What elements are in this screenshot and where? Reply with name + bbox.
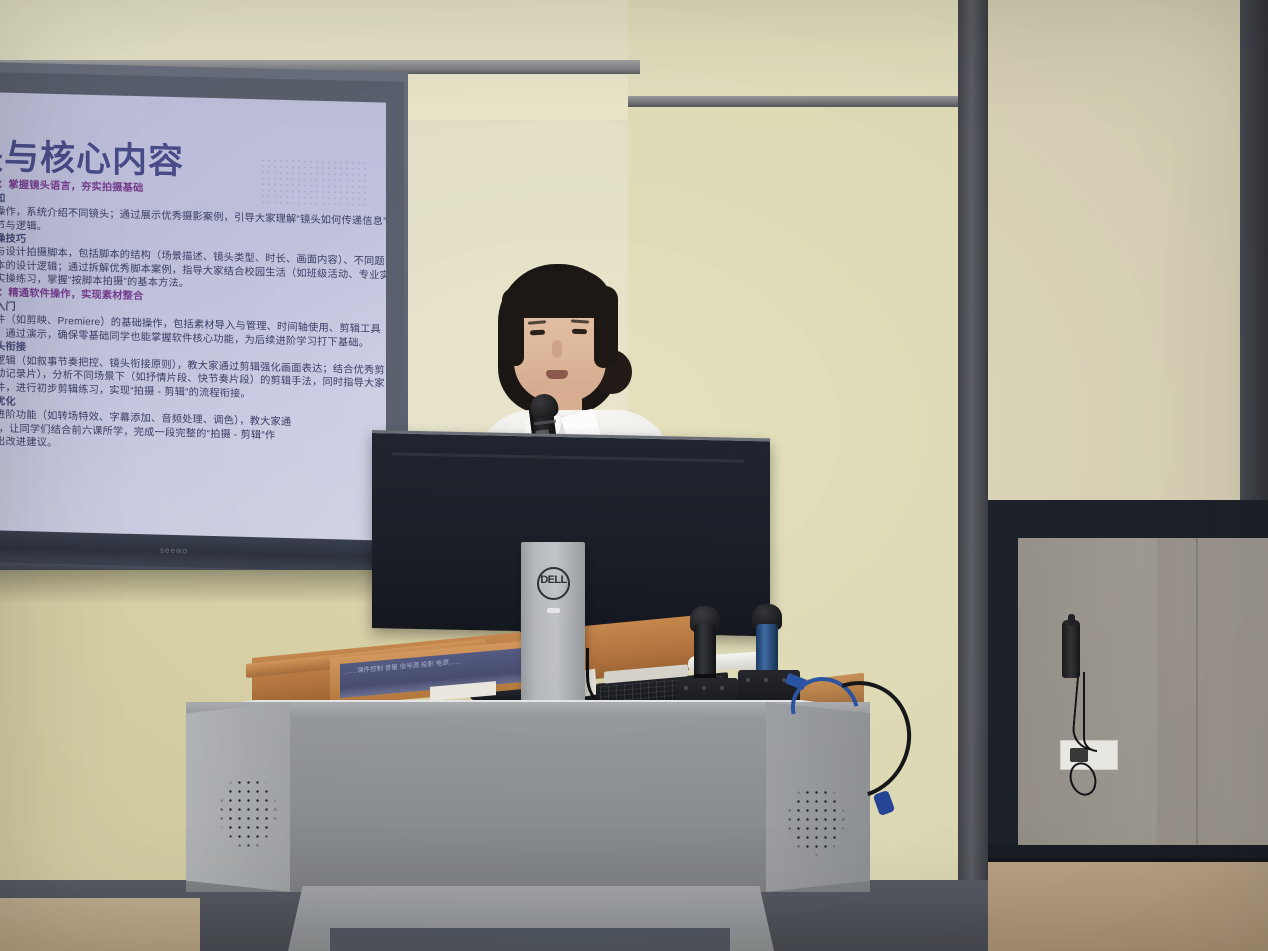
classroom-photo: 块与核心内容 1-2 课）：掌握镜头语言，夯实拍摄基础镜头认知的基础操作，系统介…	[0, 0, 1268, 951]
slide-line: 的基础操作，系统介绍不同镜头；通过展示优秀摄影案例，引导大家理解“镜头如何传递信…	[0, 207, 386, 229]
cradle-indicator-dot	[684, 686, 688, 690]
slide-title: 块与核心内容	[0, 128, 184, 185]
wall-cable-b	[1083, 672, 1097, 752]
monitor-cable	[586, 648, 620, 704]
wall-panel-far-right	[986, 0, 1268, 520]
cradle-indicator-dot	[702, 686, 706, 690]
right-wall-panel-seam	[1196, 538, 1198, 848]
interactive-display-screen[interactable]: 块与核心内容 1-2 课）：掌握镜头语言，夯实拍摄基础镜头认知的基础操作，系统介…	[0, 92, 386, 553]
slide-line: 3-7 课）：精通软件操作，实现素材整合	[0, 288, 143, 303]
power-button[interactable]	[547, 608, 560, 613]
floor-wood-right	[988, 862, 1268, 951]
dell-logo-label: DELL	[537, 574, 570, 586]
display-brand-label: seewo	[160, 546, 188, 556]
slide-line: 辑与镜头衔接	[0, 342, 26, 354]
hair-side-left	[502, 288, 524, 366]
dot-grid-decoration-icon	[260, 157, 370, 206]
wall-trim-horizontal	[628, 96, 964, 107]
slide-line: 镜头认知	[0, 194, 6, 206]
wall-column-divider	[958, 0, 988, 951]
slide-line: 与作品优化	[0, 397, 16, 409]
slide-line: 计与实操技巧	[0, 234, 26, 246]
cradle-indicator-dot	[720, 686, 724, 690]
slide-line: 对性提出改进建议。	[0, 437, 58, 450]
hair-side-right	[594, 286, 618, 368]
right-wall-grey-panel	[1018, 538, 1268, 848]
mouth	[546, 370, 568, 379]
cradle-indicator-dot	[746, 678, 750, 682]
podium-base-shadow	[330, 928, 730, 951]
wall-column-divider-right	[1240, 0, 1268, 540]
slide-line: 件基础入门	[0, 302, 16, 314]
eye-right	[572, 329, 587, 335]
nose	[552, 340, 562, 358]
slide-line: 中的细节与逻辑。	[0, 221, 47, 234]
floor-wood-left	[0, 898, 200, 951]
wall-mounted-device[interactable]	[1062, 620, 1080, 678]
socket-outlet-icon	[1070, 748, 1088, 762]
speaker-grille-left-icon	[208, 760, 288, 864]
wall-device-antenna	[1068, 614, 1075, 626]
eye-left	[530, 330, 545, 336]
cradle-indicator-dot	[764, 678, 768, 682]
slide-line: 1-2 课）：掌握镜头语言，夯实拍摄基础	[0, 180, 143, 195]
presentation-slide: 块与核心内容 1-2 课）：掌握镜头语言，夯实拍摄基础镜头认知的基础操作，系统介…	[0, 92, 386, 553]
